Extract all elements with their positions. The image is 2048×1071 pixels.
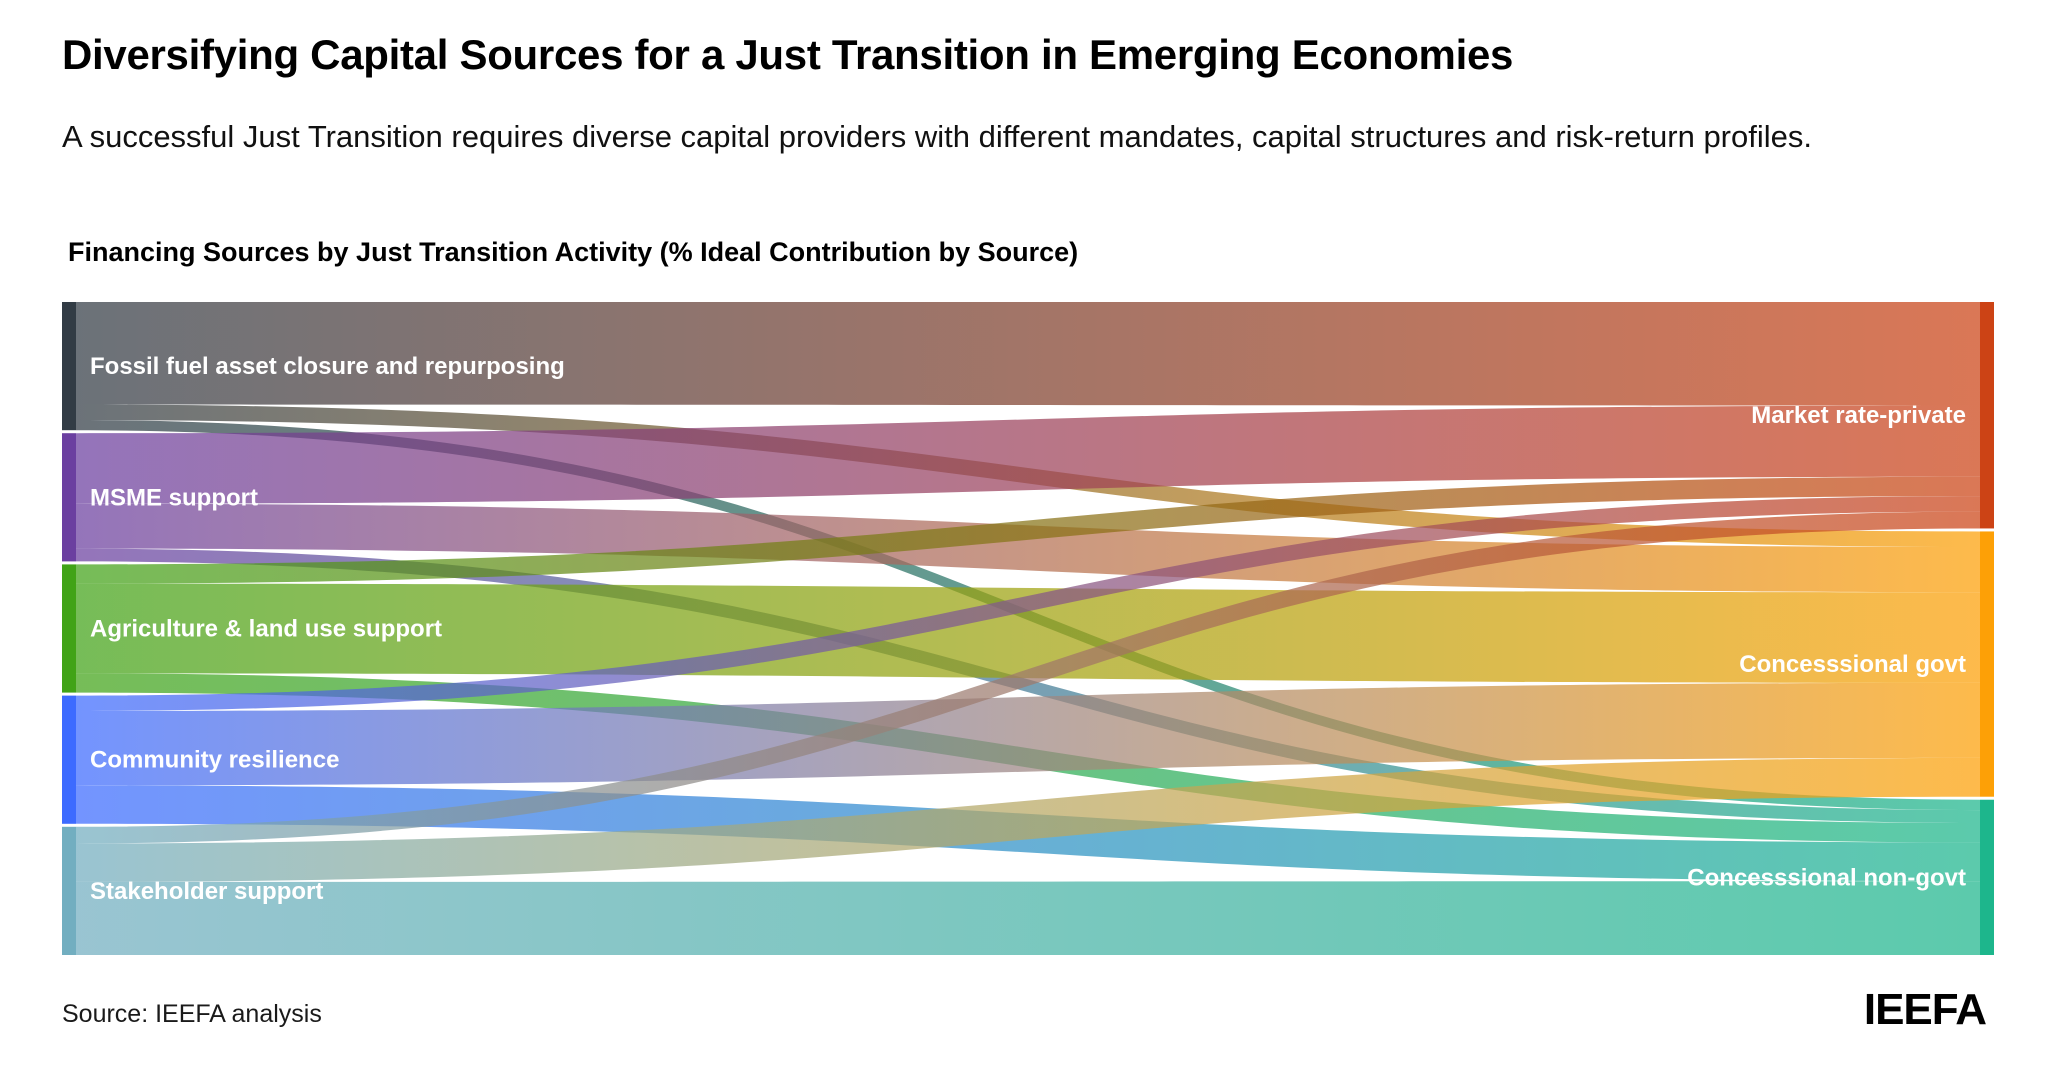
sankey-node-label-market: Market rate-private xyxy=(1751,402,1966,429)
sankey-link[interactable] xyxy=(76,881,1980,955)
sankey-node-label-fossil: Fossil fuel asset closure and repurposin… xyxy=(90,353,565,380)
infographic-page: Diversifying Capital Sources for a Just … xyxy=(0,0,2048,1071)
sankey-node-label-agriculture: Agriculture & land use support xyxy=(90,616,442,643)
sankey-node-agriculture[interactable] xyxy=(62,564,76,692)
sankey-chart: Fossil fuel asset closure and repurposin… xyxy=(62,302,1994,955)
source-note: Source: IEEFA analysis xyxy=(62,1000,322,1029)
chart-title: Financing Sources by Just Transition Act… xyxy=(68,237,1968,268)
sankey-node-label-concnongov: Concesssional non-govt xyxy=(1687,864,1966,891)
sankey-node-label-msme: MSME support xyxy=(90,484,258,511)
sankey-node-community[interactable] xyxy=(62,696,76,824)
sankey-node-concnongov[interactable] xyxy=(1980,800,1994,955)
sankey-node-msme[interactable] xyxy=(62,433,76,561)
sankey-node-label-community: Community resilience xyxy=(90,747,339,774)
sankey-node-market[interactable] xyxy=(1980,302,1994,528)
ieefa-logo: IEEFA xyxy=(1864,985,1986,1035)
sankey-node-label-stakeholder: Stakeholder support xyxy=(90,878,323,905)
page-title: Diversifying Capital Sources for a Just … xyxy=(62,33,2002,77)
sankey-node-stakeholder[interactable] xyxy=(62,827,76,955)
sankey-node-concgov[interactable] xyxy=(1980,531,1994,796)
sankey-svg: Fossil fuel asset closure and repurposin… xyxy=(62,302,1994,955)
sankey-node-label-concgov: Concesssional govt xyxy=(1739,651,1966,678)
page-subtitle: A successful Just Transition requires di… xyxy=(62,118,1942,156)
sankey-node-fossil[interactable] xyxy=(62,302,76,430)
